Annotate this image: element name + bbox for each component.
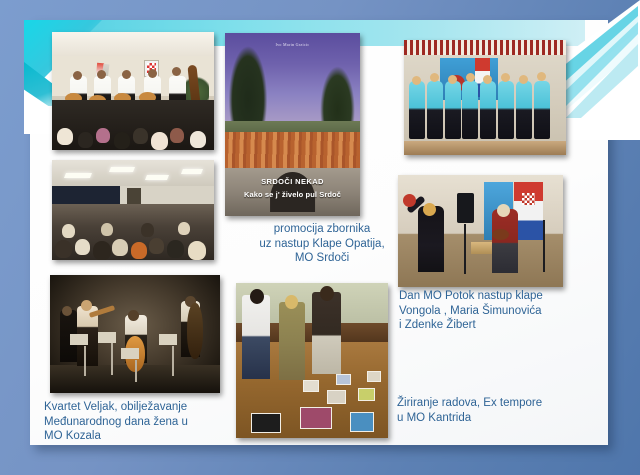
photo-choir-klapa <box>404 40 566 155</box>
tambourine-icon <box>403 194 416 207</box>
caption-kvartet-veljak: Kvartet Veljak, obilježavanje Međunarodn… <box>44 400 244 444</box>
photo-klapa-opatija <box>52 32 214 150</box>
photo-performers-potok <box>398 175 563 287</box>
photo-jury-kantrida <box>236 283 388 438</box>
photo-kvartet-veljak <box>50 275 220 393</box>
photo-book-cover: Ivo Marin Grzicic SRDOČI NEKAD Kako se j… <box>225 33 360 216</box>
book-cover-author: Ivo Marin Grzicic <box>225 42 360 47</box>
book-cover-title: SRDOČI NEKAD <box>225 177 360 186</box>
presentation-slide: Ivo Marin Grzicic SRDOČI NEKAD Kako se j… <box>0 0 640 475</box>
book-cover-subtitle: Kako se j' živelo pul Srdoč <box>225 190 360 199</box>
caption-ziriranje-radova: Žiriranje radova, Ex tempore u MO Kantri… <box>397 396 597 425</box>
double-bass-icon <box>187 303 203 359</box>
caption-promocija-zbornika: promocija zbornika uz nastup Klape Opati… <box>232 222 412 266</box>
photo-audience <box>52 160 214 260</box>
caption-dan-mo-potok: Dan MO Potok nastup klape Vongola , Mari… <box>399 289 604 333</box>
loudspeaker-icon <box>457 193 474 223</box>
